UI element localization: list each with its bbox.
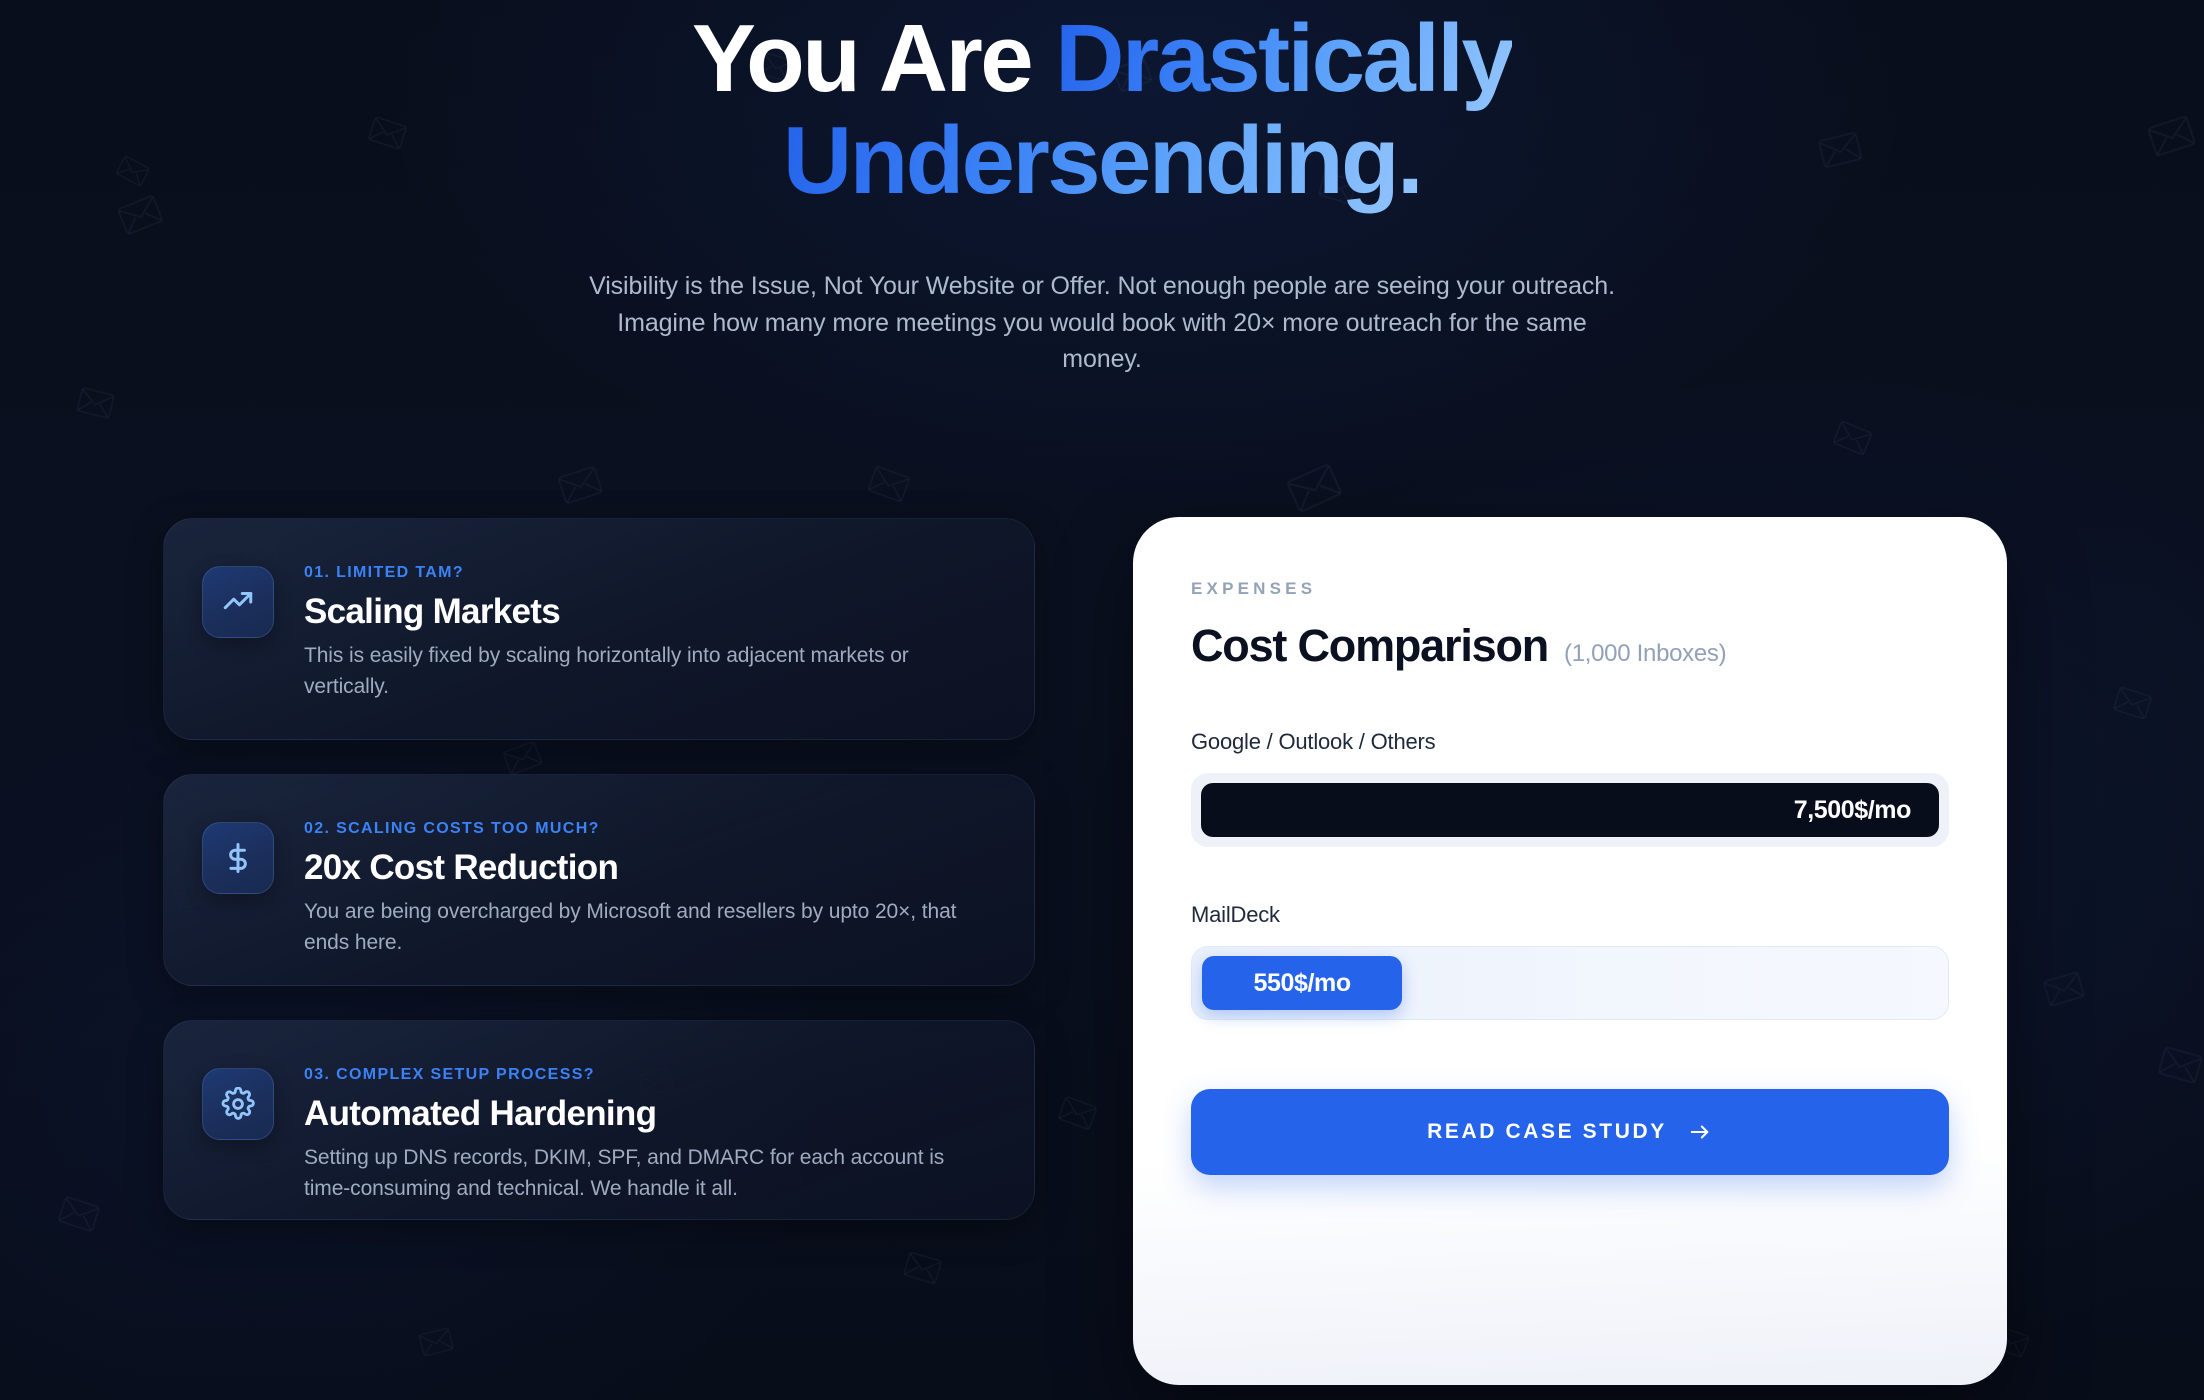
- bar-label-competitors: Google / Outlook / Others: [1191, 729, 1949, 755]
- headline-line-1: You Are Drastically: [692, 5, 1512, 112]
- problem-card-scaling-markets[interactable]: 01. LIMITED TAM? Scaling Markets This is…: [163, 518, 1035, 740]
- bar-group-mailconst: MailDeck 550$/mo: [1191, 902, 1949, 1020]
- read-case-study-button[interactable]: READ CASE STUDY: [1191, 1089, 1949, 1175]
- bar-fill-mailconst: 550$/mo: [1202, 956, 1402, 1010]
- bar-track-competitors: 7,500$/mo: [1191, 773, 1949, 847]
- headline-accent-text: Drastically: [1055, 5, 1512, 112]
- problem-card-list: 01. LIMITED TAM? Scaling Markets This is…: [163, 518, 1035, 1220]
- panel-subtitle: (1,000 Inboxes): [1564, 640, 1726, 668]
- bar-fill-competitors: 7,500$/mo: [1201, 783, 1939, 837]
- read-case-study-label: READ CASE STUDY: [1427, 1120, 1667, 1144]
- page-title: You Are Drastically Undersending.: [0, 8, 2204, 212]
- problem-card-cost-reduction[interactable]: 02. SCALING COSTS TOO MUCH? 20x Cost Red…: [163, 774, 1035, 986]
- cost-comparison-panel: EXPENSES Cost Comparison (1,000 Inboxes)…: [1133, 517, 2007, 1385]
- dollar-icon: [202, 822, 274, 894]
- problem-card-title: Scaling Markets: [304, 592, 984, 632]
- gear-icon: [202, 1068, 274, 1140]
- bar-group-competitors: Google / Outlook / Others 7,500$/mo: [1191, 729, 1949, 847]
- panel-header: Cost Comparison (1,000 Inboxes): [1191, 620, 1949, 672]
- page-root: You Are Drastically Undersending. Visibi…: [0, 0, 2204, 1400]
- problem-card-description: You are being overcharged by Microsoft a…: [304, 897, 984, 959]
- bar-track-mailconst: 550$/mo: [1191, 946, 1949, 1020]
- problem-card-title: 20x Cost Reduction: [304, 848, 984, 888]
- problem-card-description: This is easily fixed by scaling horizont…: [304, 641, 984, 703]
- problem-card-title: Automated Hardening: [304, 1094, 984, 1134]
- panel-title: Cost Comparison: [1191, 620, 1548, 672]
- problem-card-description: Setting up DNS records, DKIM, SPF, and D…: [304, 1143, 984, 1205]
- bar-label-mailconst: MailDeck: [1191, 902, 1949, 928]
- arrow-right-icon: [1687, 1121, 1713, 1143]
- headline-white-text: You Are: [692, 5, 1055, 112]
- bar-value-competitors: 7,500$/mo: [1794, 796, 1911, 825]
- panel-kicker: EXPENSES: [1191, 579, 1949, 599]
- problem-card-kicker: 01. LIMITED TAM?: [304, 564, 984, 582]
- page-subtitle: Visibility is the Issue, Not Your Websit…: [587, 268, 1617, 378]
- headline-line-2: Undersending.: [783, 107, 1421, 214]
- bar-value-mailconst: 550$/mo: [1253, 969, 1350, 998]
- problem-card-automated-hardening[interactable]: 03. COMPLEX SETUP PROCESS? Automated Har…: [163, 1020, 1035, 1220]
- trending-up-icon: [202, 566, 274, 638]
- problem-card-kicker: 02. SCALING COSTS TOO MUCH?: [304, 820, 984, 838]
- problem-card-kicker: 03. COMPLEX SETUP PROCESS?: [304, 1066, 984, 1084]
